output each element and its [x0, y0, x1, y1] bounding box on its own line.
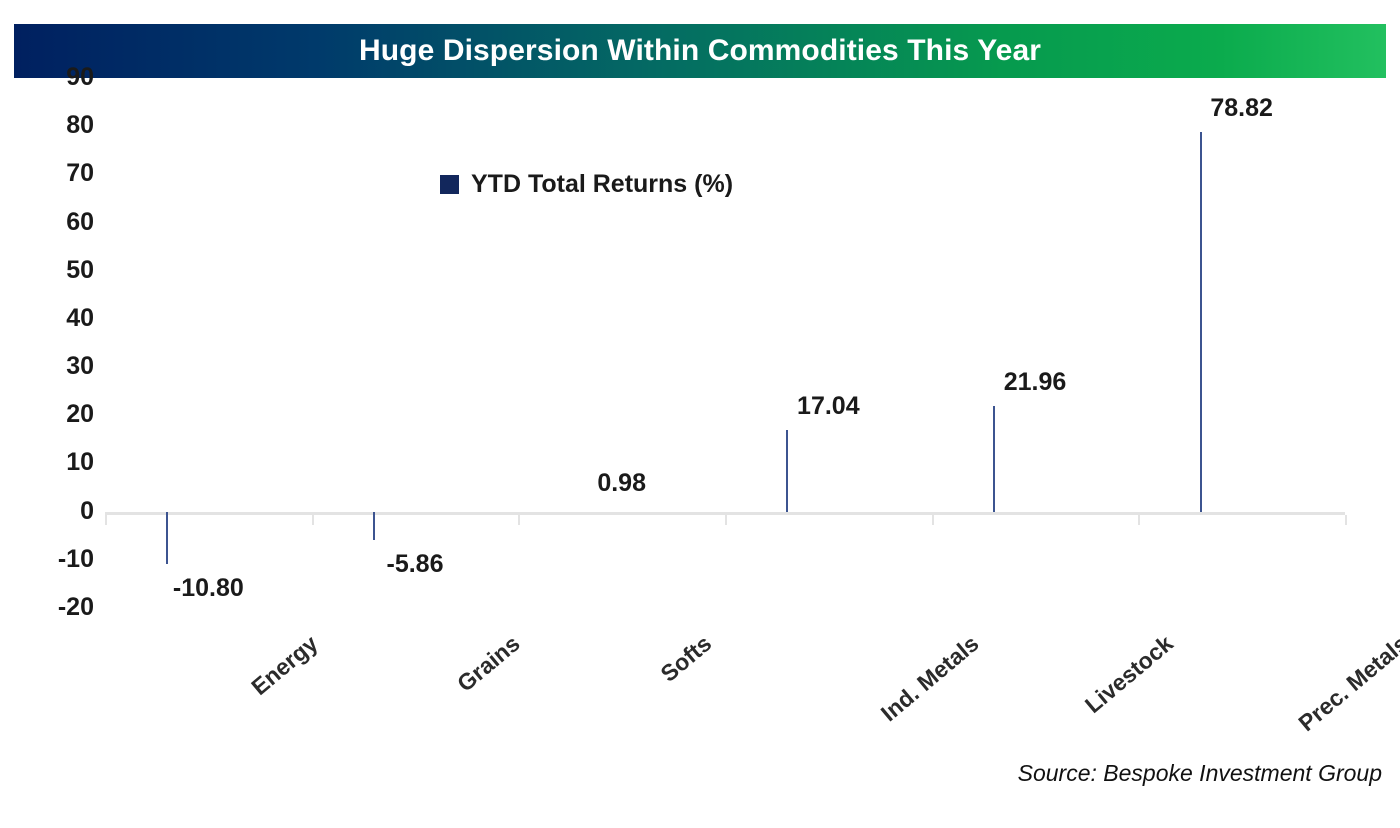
y-axis-tick-label: -10 — [24, 547, 94, 572]
x-axis-tick — [518, 515, 520, 525]
plot-area: -10.80Energy-5.86Grains0.98Softs17.04Ind… — [105, 78, 1345, 608]
x-axis-tick — [312, 515, 314, 525]
bar-value-label: -10.80 — [98, 576, 318, 601]
x-axis-tick — [932, 515, 934, 525]
legend-series-label: YTD Total Returns (%) — [471, 170, 733, 199]
y-axis: 9080706050403020100-10-20 — [18, 78, 94, 758]
x-axis-category-label: Ind. Metals — [876, 630, 984, 727]
y-axis-tick-label: 50 — [24, 258, 94, 283]
x-axis-category-label: Livestock — [1080, 630, 1179, 719]
x-axis-category-label: Prec. Metals — [1293, 630, 1400, 737]
y-axis-tick-label: 10 — [24, 450, 94, 475]
bar-ind-metals[interactable] — [786, 430, 788, 512]
bar-value-label: -5.86 — [305, 552, 525, 577]
x-axis-category-label: Softs — [655, 630, 716, 688]
y-axis-tick-label: 0 — [24, 499, 94, 524]
bar-livestock[interactable] — [993, 406, 995, 512]
x-axis-tick — [725, 515, 727, 525]
y-axis-tick-label: 70 — [24, 161, 94, 186]
y-axis-tick-label: 90 — [24, 65, 94, 90]
source-note: Source: Bespoke Investment Group — [1018, 760, 1382, 787]
y-axis-tick-label: -20 — [24, 595, 94, 620]
x-axis-tick — [1345, 515, 1347, 525]
y-axis-tick-label: 60 — [24, 210, 94, 235]
bar-value-label: 78.82 — [1132, 96, 1352, 121]
y-axis-tick-label: 80 — [24, 113, 94, 138]
y-axis-tick-label: 40 — [24, 306, 94, 331]
bar-value-label: 21.96 — [925, 370, 1145, 395]
chart-title-banner: Huge Dispersion Within Commodities This … — [14, 24, 1386, 78]
bar-grains[interactable] — [373, 512, 375, 540]
bar-prec-metals[interactable] — [1200, 132, 1202, 512]
x-axis-tick — [1138, 515, 1140, 525]
x-axis-category-label: Grains — [452, 630, 525, 698]
chart-canvas: 9080706050403020100-10-20 -10.80Energy-5… — [0, 78, 1400, 758]
legend-swatch-icon — [440, 175, 459, 194]
page-title: Huge Dispersion Within Commodities This … — [359, 34, 1041, 68]
bar-value-label: 0.98 — [512, 471, 732, 496]
bar-energy[interactable] — [166, 512, 168, 564]
legend: YTD Total Returns (%) — [440, 170, 733, 199]
bar-value-label: 17.04 — [718, 394, 938, 419]
x-axis-category-label: Energy — [247, 630, 324, 701]
y-axis-tick-label: 20 — [24, 402, 94, 427]
x-axis-tick — [105, 515, 107, 525]
y-axis-tick-label: 30 — [24, 354, 94, 379]
